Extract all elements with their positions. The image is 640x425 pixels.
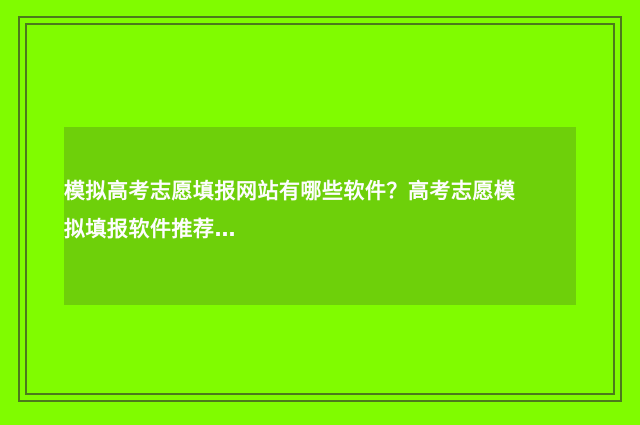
headline-text: 模拟高考志愿填报网站有哪些软件？高考志愿模拟填报软件推荐… bbox=[64, 172, 524, 248]
promo-banner: 模拟高考志愿填报网站有哪些软件？高考志愿模拟填报软件推荐… bbox=[0, 0, 640, 425]
